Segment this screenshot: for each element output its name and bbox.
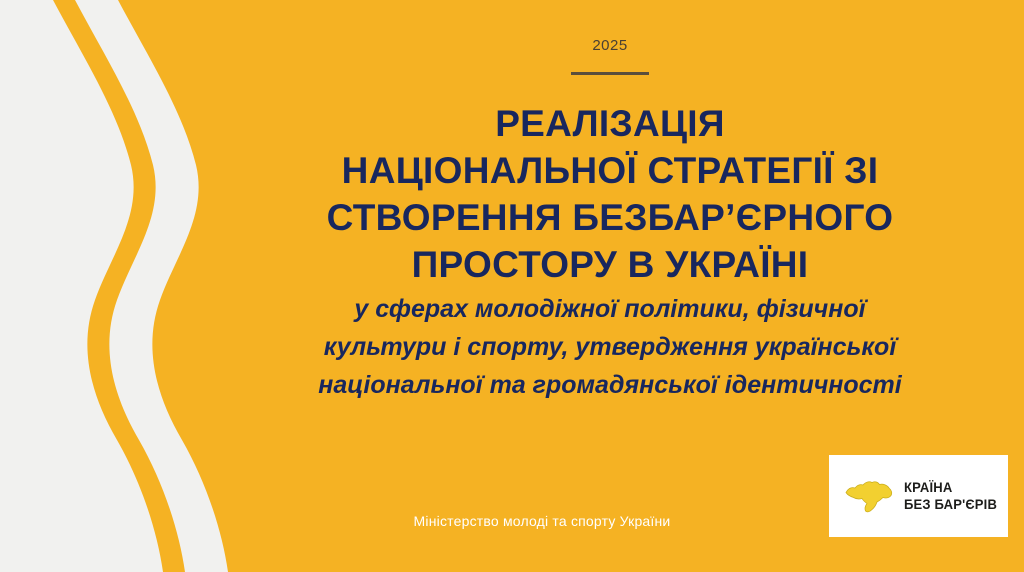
page-subtitle: у сферах молодіжної політики, фізичної к… — [236, 290, 984, 404]
title-line: НАЦІОНАЛЬНОЇ СТРАТЕГІЇ ЗІ — [252, 147, 968, 194]
year-block: 2025 — [260, 38, 960, 75]
logo-wordmark: КРАЇНА БЕЗ БАР'ЄРІВ — [904, 479, 1004, 513]
title-line: РЕАЛІЗАЦІЯ — [252, 100, 968, 147]
ministry-caption: Міністерство молоді та спорту України — [262, 513, 822, 529]
presentation-slide: 2025 РЕАЛІЗАЦІЯ НАЦІОНАЛЬНОЇ СТРАТЕГІЇ З… — [0, 0, 1024, 572]
year-label: 2025 — [260, 38, 960, 53]
subtitle-line: у сферах молодіжної політики, фізичної — [236, 290, 984, 328]
logo-text-line: КРАЇНА — [904, 479, 997, 496]
logo-text-line: БЕЗ БАР'ЄРІВ — [904, 496, 997, 513]
logo-card: КРАЇНА БЕЗ БАР'ЄРІВ — [829, 455, 1008, 537]
ukraine-map-icon — [843, 477, 895, 515]
title-line: СТВОРЕННЯ БЕЗБАР’ЄРНОГО — [252, 194, 968, 241]
title-line: ПРОСТОРУ В УКРАЇНІ — [252, 241, 968, 288]
page-title: РЕАЛІЗАЦІЯ НАЦІОНАЛЬНОЇ СТРАТЕГІЇ ЗІ СТВ… — [252, 100, 968, 288]
subtitle-line: національної та громадянської ідентичнос… — [236, 366, 984, 404]
year-divider-rule — [571, 72, 649, 75]
subtitle-line: культури і спорту, утвердження українськ… — [236, 328, 984, 366]
